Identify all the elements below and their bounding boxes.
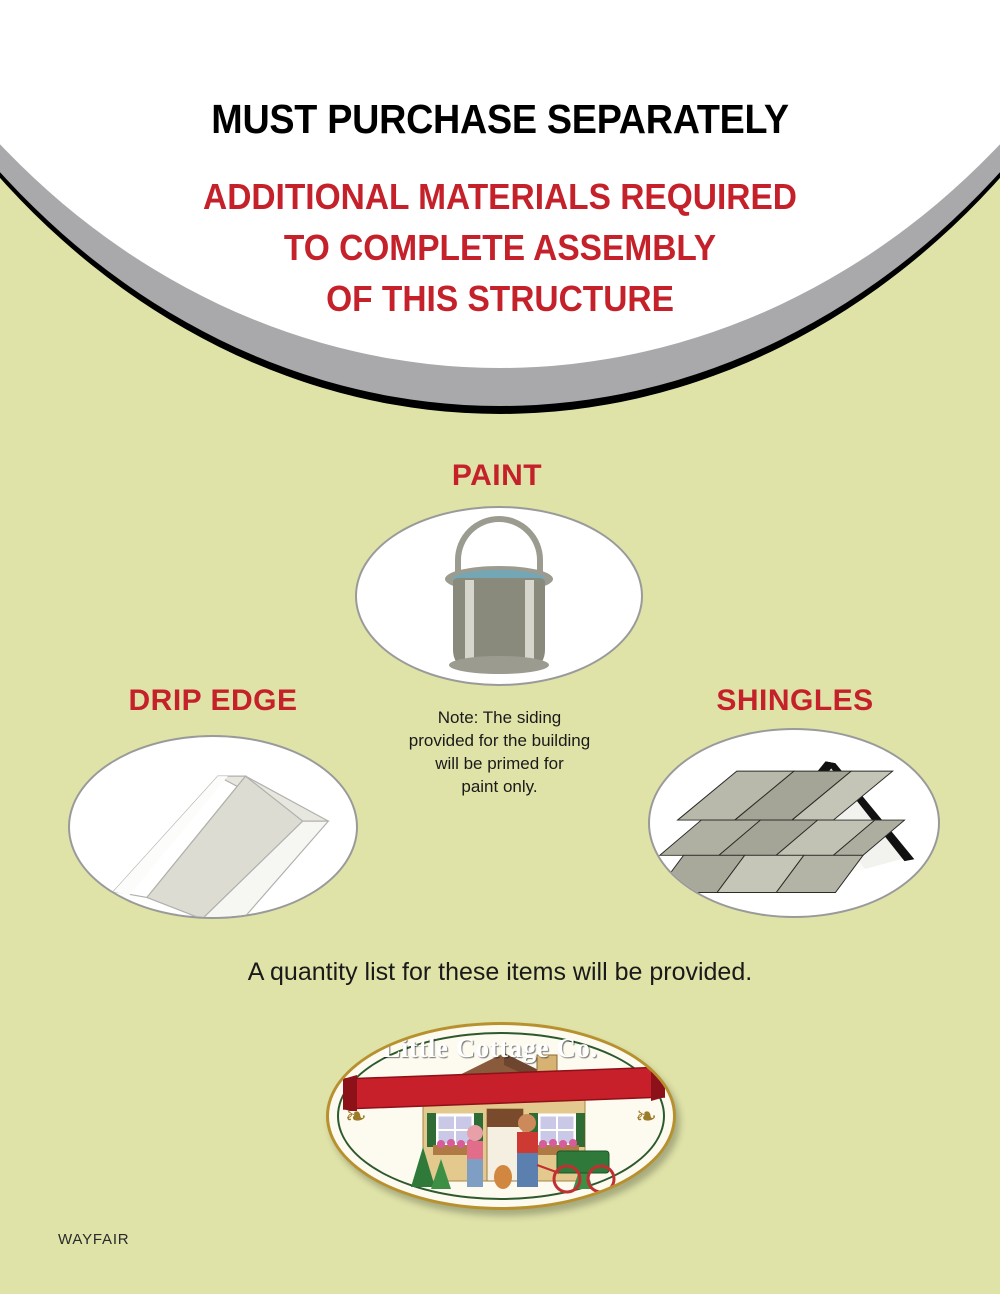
- item-label-shingles: SHINGLES: [645, 684, 945, 718]
- poster-page: MUST PURCHASE SEPARATELY ADDITIONAL MATE…: [0, 0, 1000, 1294]
- quantity-note: A quantity list for these items will be …: [0, 958, 1000, 987]
- subtitle-line-2: TO COMPLETE ASSEMBLY: [35, 222, 965, 273]
- registered-trademark-icon: ®: [654, 1031, 661, 1041]
- shingles-graphic: [650, 730, 938, 916]
- paint-note-line-1: Note: The siding: [372, 706, 627, 729]
- paint-note-line-2: provided for the building: [372, 729, 627, 752]
- bucket-highlight-right: [525, 580, 534, 664]
- drip-edge-graphic: [70, 737, 356, 917]
- logo-oval-frame: ❧ ❧: [326, 1022, 676, 1210]
- paint-note-line-3: will be primed for: [372, 752, 627, 775]
- shingles-icon: [648, 728, 940, 918]
- paint-note-line-4: paint only.: [372, 775, 627, 798]
- paint-bucket-icon: [355, 506, 643, 686]
- brand-logo: ❧ ❧: [326, 1022, 676, 1210]
- paint-bucket-graphic: [439, 516, 559, 676]
- item-label-drip-edge: DRIP EDGE: [63, 684, 363, 718]
- header: MUST PURCHASE SEPARATELY ADDITIONAL MATE…: [0, 0, 1000, 324]
- item-label-paint: PAINT: [347, 459, 647, 493]
- bucket-highlight-left: [465, 580, 474, 664]
- page-title: MUST PURCHASE SEPARATELY: [40, 0, 960, 143]
- bucket-base-shape: [449, 656, 549, 674]
- drip-edge-icon: [68, 735, 358, 919]
- logo-ribbon: [343, 1065, 665, 1111]
- subtitle-line-3: OF THIS STRUCTURE: [35, 273, 965, 324]
- paint-note: Note: The siding provided for the buildi…: [372, 706, 627, 798]
- retailer-watermark: WAYFAIR: [58, 1231, 129, 1248]
- subtitle-line-1: ADDITIONAL MATERIALS REQUIRED: [35, 171, 965, 222]
- page-subtitle: ADDITIONAL MATERIALS REQUIRED TO COMPLET…: [35, 143, 965, 324]
